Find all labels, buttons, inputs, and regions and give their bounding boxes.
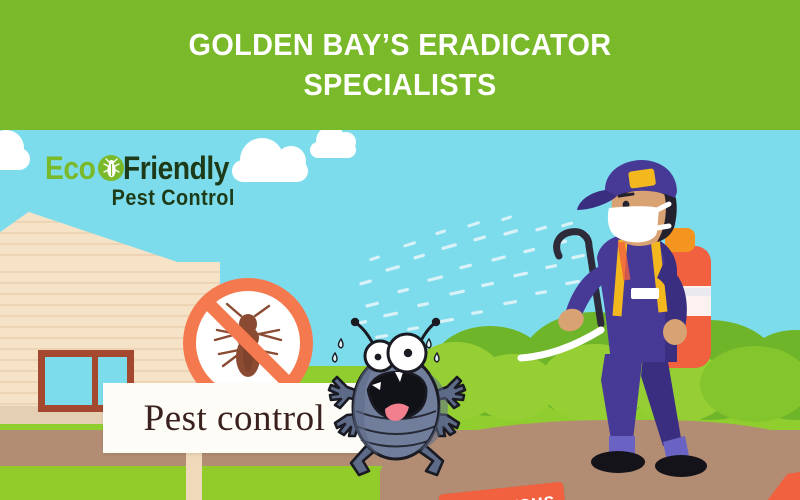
- beetle-icon: [98, 155, 124, 181]
- pest-control-sign-label: Pest control: [144, 397, 326, 440]
- worker-shoe-front: [591, 451, 645, 473]
- brand-logo-subtitle: Pest Control: [112, 185, 235, 211]
- brand-logo-eco: Eco: [45, 152, 95, 184]
- brand-logo-line-2: Pest Control: [45, 185, 235, 211]
- worker-shoe-back: [655, 455, 707, 477]
- cloud-icon-right: [310, 142, 356, 158]
- worker-hand-right: [663, 319, 687, 345]
- brand-logo[interactable]: Eco Friendly Pest C: [45, 152, 244, 211]
- panicking-bug-character: [325, 295, 475, 495]
- cloud-icon-left: [0, 148, 30, 170]
- page-title: GOLDEN BAY’S ERADICATOR SPECIALISTS: [140, 25, 661, 104]
- illustration-scene: dangerous STOP Pest control: [0, 130, 800, 500]
- brand-logo-line-1: Eco Friendly: [45, 152, 244, 184]
- worker-cap-badge: [628, 168, 656, 188]
- brand-logo-friendly: Friendly: [123, 152, 229, 184]
- worker-leg-front: [601, 354, 643, 440]
- worker-leg-back: [641, 356, 681, 446]
- worker-cap-brim: [577, 190, 617, 210]
- pest-control-technician: [505, 160, 745, 500]
- page-title-line-1: GOLDEN BAY’S ERADICATOR: [189, 27, 612, 62]
- pest-control-sign-post: [186, 450, 202, 500]
- header-banner: GOLDEN BAY’S ERADICATOR SPECIALISTS: [0, 0, 800, 130]
- worker-name-badge: [631, 288, 659, 299]
- page-title-line-2: SPECIALISTS: [303, 67, 496, 102]
- window-mullion: [92, 357, 98, 405]
- promo-banner-image: GOLDEN BAY’S ERADICATOR SPECIALISTS: [0, 0, 800, 500]
